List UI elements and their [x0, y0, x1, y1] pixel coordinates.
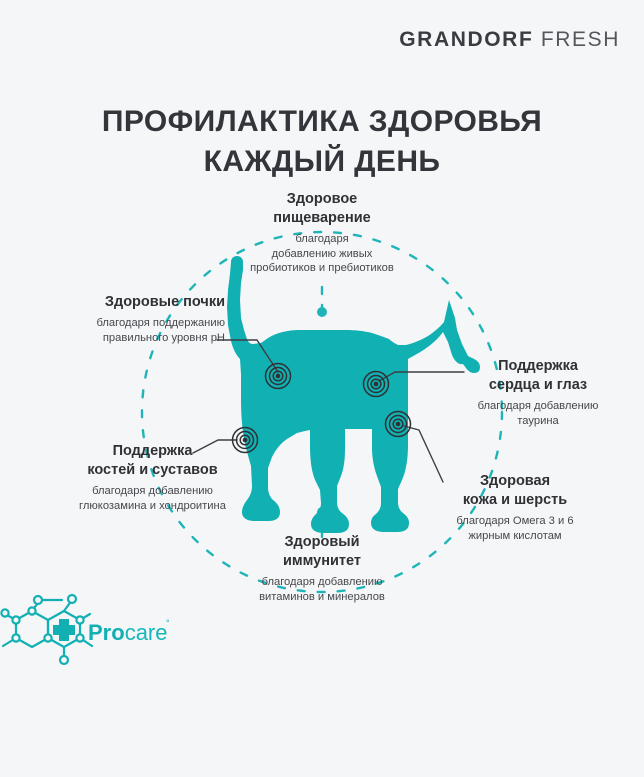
callout-bones: Поддержка костей и суставов благодаря до…: [50, 442, 255, 513]
callout-digestion-heading: Здоровое пищеварение: [222, 190, 422, 228]
callout-skin-subtext: благодаря Омега 3 и 6 жирным кислотам: [415, 514, 615, 544]
callout-skin: Здоровая кожа и шерсть благодаря Омега 3…: [415, 472, 615, 543]
callout-heart-subtext: благодаря добавлению таурина: [443, 399, 633, 429]
callout-kidneys-subtext: благодаря поддержанию правильного уровня…: [40, 316, 225, 346]
callout-digestion: Здоровое пищеварение благодаря добавлени…: [222, 190, 422, 276]
procare-name-bold: Pro: [88, 620, 125, 645]
procare-name-light: care: [125, 620, 168, 645]
procare-wordmark: Procare: [88, 620, 167, 646]
page-title: ПРОФИЛАКТИКА ЗДОРОВЬЯ КАЖДЫЙ ДЕНЬ: [0, 102, 644, 182]
callout-immunity-subtext: благодаря добавлению витаминов и минерал…: [222, 575, 422, 605]
procare-logo: Procare °: [14, 604, 194, 666]
callout-kidneys: Здоровые почки благодаря поддержанию пра…: [40, 293, 225, 346]
callout-immunity: Здоровый иммунитет благодаря добавлению …: [222, 533, 422, 604]
marker-kidneys: [266, 364, 291, 389]
brand-line: FRESH: [541, 28, 620, 51]
page-title-line-1: ПРОФИЛАКТИКА ЗДОРОВЬЯ: [102, 105, 542, 138]
callout-kidneys-heading: Здоровые почки: [40, 293, 225, 312]
callout-heart: Поддержка сердца и глаз благодаря добавл…: [443, 357, 633, 428]
callout-heart-heading: Поддержка сердца и глаз: [443, 357, 633, 395]
callout-digestion-subtext: благодаря добавлению живых пробиотиков и…: [222, 232, 422, 277]
marker-skin: [386, 412, 411, 437]
callout-bones-subtext: благодаря добавлению глюкозамина и хондр…: [50, 484, 255, 514]
brand-name: GRANDORF: [399, 28, 533, 51]
callout-bones-heading: Поддержка костей и суставов: [50, 442, 255, 480]
callout-skin-heading: Здоровая кожа и шерсть: [415, 472, 615, 510]
marker-heart: [364, 372, 389, 397]
brand-logotype: GRANDORF FRESH: [399, 28, 620, 52]
registered-mark: °: [166, 618, 170, 628]
callout-immunity-heading: Здоровый иммунитет: [222, 533, 422, 571]
page-title-line-2: КАЖДЫЙ ДЕНЬ: [204, 145, 441, 178]
